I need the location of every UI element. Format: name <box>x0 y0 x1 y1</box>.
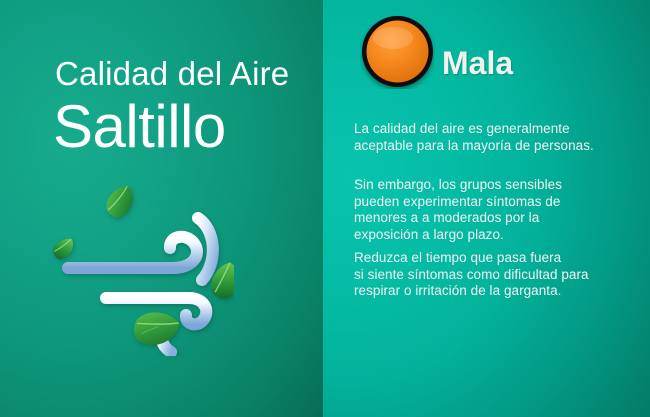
advice-line: Sin embargo, los grupos sensibles <box>354 177 646 194</box>
air-quality-card: Calidad del Aire Saltillo <box>0 0 650 417</box>
advice-paragraph-general: La calidad del aire es generalmenteacept… <box>354 121 646 154</box>
air-quality-status-circle-icon <box>360 14 435 89</box>
advice-paragraph-recommendation: Reduzca el tiempo que pasa fuerasi sient… <box>354 250 646 300</box>
status-badge: Mala <box>442 45 513 81</box>
advice-line: pueden experimentar síntomas de <box>354 194 646 211</box>
advice-line: La calidad del aire es generalmente <box>354 121 646 138</box>
page-title-city: Saltillo <box>53 92 226 162</box>
wind-with-leaves-icon <box>44 186 234 356</box>
advice-line: exposición a largo plazo. <box>354 227 646 244</box>
advice-line: aceptable para la mayoría de personas. <box>354 138 646 155</box>
advice-line: si siente síntomas como dificultad para <box>354 267 646 284</box>
advice-line: menores a a moderados por la <box>354 210 646 227</box>
advice-paragraph-sensitive-groups: Sin embargo, los grupos sensiblespueden … <box>354 177 646 243</box>
page-title-small: Calidad del Aire <box>55 54 289 94</box>
advice-line: Reduzca el tiempo que pasa fuera <box>354 250 646 267</box>
advice-line: respirar o irritación de la garganta. <box>354 283 646 300</box>
left-panel: Calidad del Aire Saltillo <box>0 0 323 417</box>
